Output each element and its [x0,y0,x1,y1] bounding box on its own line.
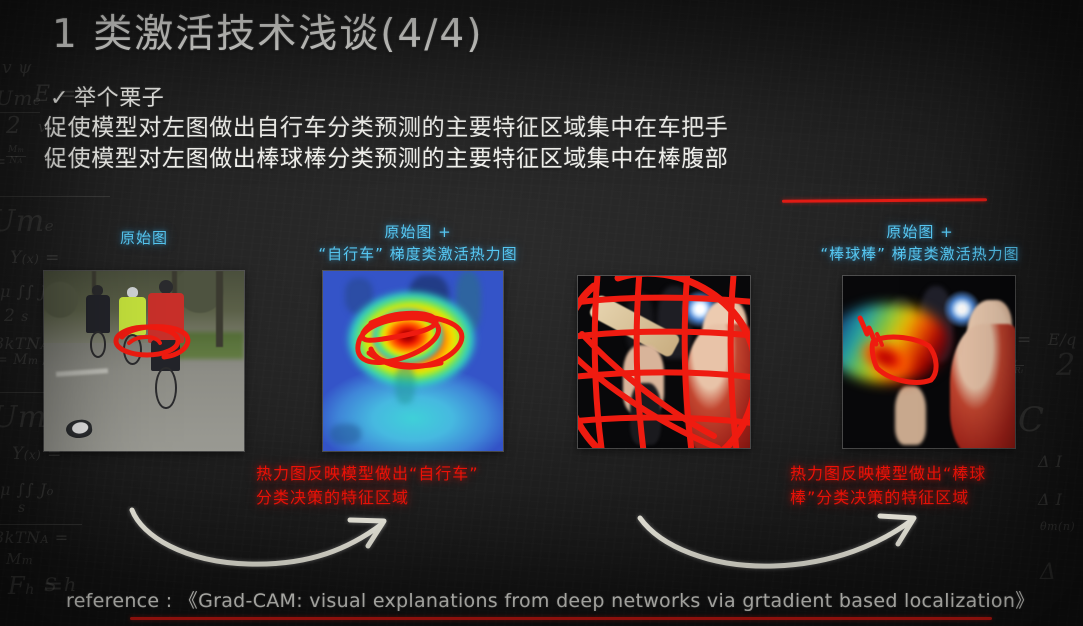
red-caption-baseball: 热力图反映模型做出“棒球 棒”分类决策的特征区域 [790,462,986,510]
bullet-text-0: 举个栗子 [74,86,164,111]
red-caption-line-2: 棒”分类决策的特征区域 [790,486,986,510]
panel-caption-original-bicycle: 原始图 [88,228,200,250]
image-heatmap-baseball [843,276,1015,448]
panel-caption-heatmap-bicycle: 原始图 + “自行车” 梯度类激活热力图 [268,222,568,266]
red-caption-bicycle: 热力图反映模型做出“自行车” 分类决策的特征区域 [256,462,479,510]
page-title: 1 类激活技术浅谈(4/4) [52,14,483,56]
bullet-item-0: ✓举个栗子 [44,84,1044,113]
caption-line-1: 原始图 + [770,222,1070,244]
bullet-text-1: 促使模型对左图做出自行车分类预测的主要特征区域集中在车把手 [44,115,728,141]
panel-caption-heatmap-baseball: 原始图 + “棒球棒” 梯度类激活热力图 [770,222,1070,266]
image-original-bicycle [44,271,244,451]
red-caption-line-1: 热力图反映模型做出“棒球 [790,462,986,486]
check-icon: ✓ [50,84,74,113]
reference-red-underline [130,617,992,620]
red-caption-line-2: 分类决策的特征区域 [256,486,479,510]
reference-text: reference : 《Grad-CAM: visual explanatio… [66,586,1035,613]
red-caption-line-1: 热力图反映模型做出“自行车” [256,462,479,486]
bullet-item-2: -促使模型对左图做出棒球棒分类预测的主要特征区域集中在棒腹部 [44,144,1044,175]
caption-line-1: 原始图 [88,228,200,250]
image-original-baseball [578,276,750,448]
caption-line-2: “自行车” 梯度类激活热力图 [268,244,568,266]
bullet-text-2: 促使模型对左图做出棒球棒分类预测的主要特征区域集中在棒腹部 [44,146,728,172]
caption-line-1: 原始图 + [268,222,568,244]
bullet-list: ✓举个栗子 -促使模型对左图做出自行车分类预测的主要特征区域集中在车把手 -促使… [44,84,1044,174]
bullet-item-1: -促使模型对左图做出自行车分类预测的主要特征区域集中在车把手 [44,113,1044,144]
caption-line-2: “棒球棒” 梯度类激活热力图 [770,244,1070,266]
image-heatmap-bicycle [323,271,503,451]
